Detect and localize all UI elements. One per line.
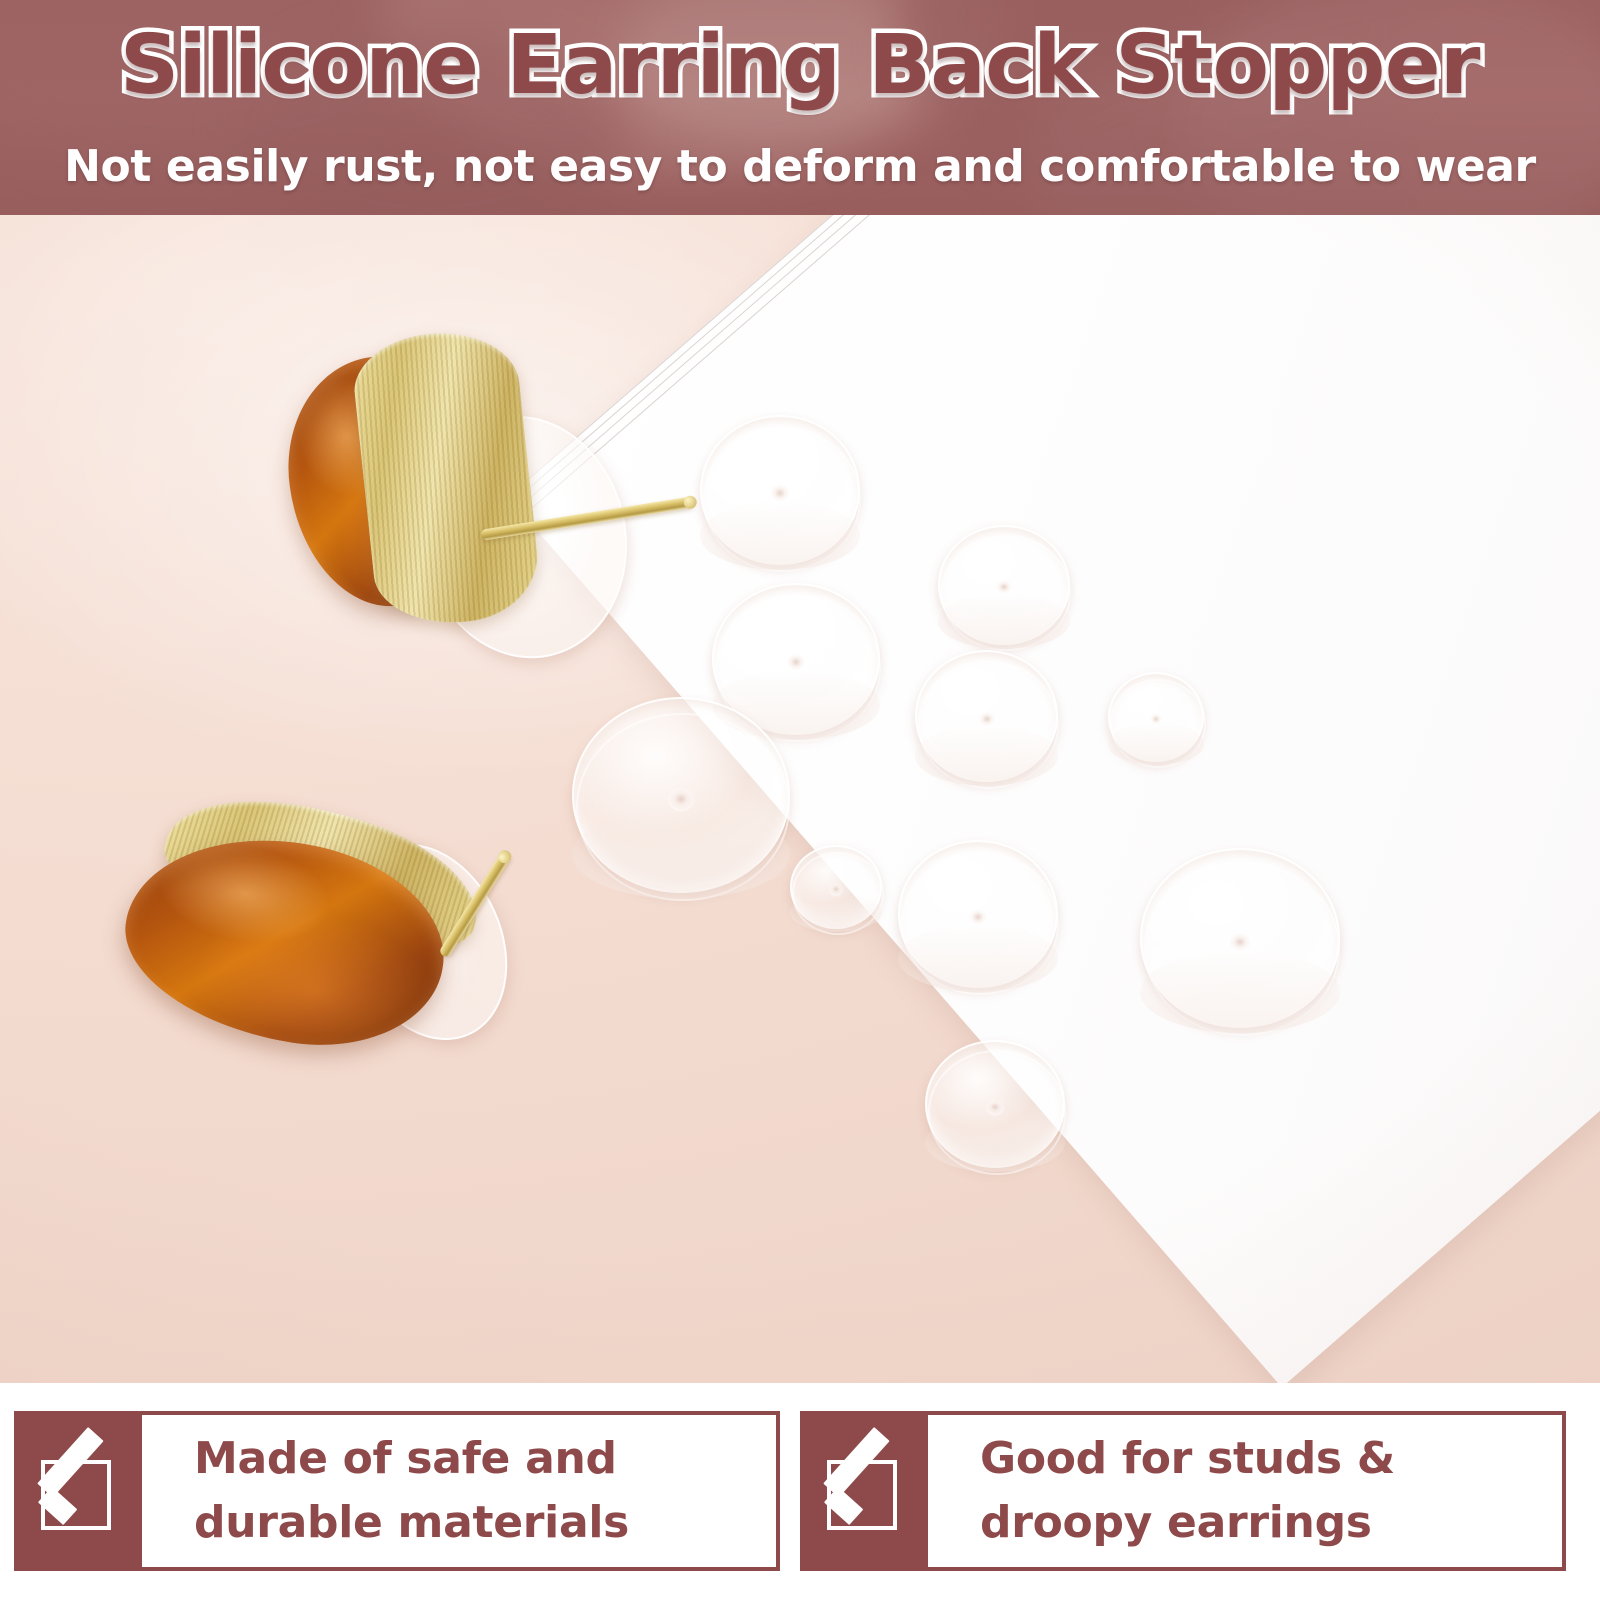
feature-badge-2-line2: droopy earrings xyxy=(980,1491,1562,1555)
photo-vignette xyxy=(0,215,1600,1383)
checkbox-check-icon xyxy=(800,1411,928,1571)
feature-badge-1-line2: durable materials xyxy=(194,1491,776,1555)
product-photo xyxy=(0,215,1600,1383)
header-banner: Silicone Earring Back Stopper Not easily… xyxy=(0,0,1600,215)
checkbox-check-icon xyxy=(14,1411,142,1571)
feature-badge-1: Made of safe and durable materials xyxy=(14,1411,780,1571)
product-infographic: Silicone Earring Back Stopper Not easily… xyxy=(0,0,1600,1600)
feature-badge-2: Good for studs & droopy earrings xyxy=(800,1411,1566,1571)
feature-badges: Made of safe and durable materials Good … xyxy=(0,1383,1600,1600)
feature-badge-2-line1: Good for studs & xyxy=(980,1427,1562,1491)
feature-badge-2-text: Good for studs & droopy earrings xyxy=(928,1411,1566,1571)
feature-badge-1-text: Made of safe and durable materials xyxy=(142,1411,780,1571)
page-subtitle: Not easily rust, not easy to deform and … xyxy=(0,140,1600,194)
page-title: Silicone Earring Back Stopper xyxy=(0,18,1600,114)
feature-badge-1-line1: Made of safe and xyxy=(194,1427,776,1491)
